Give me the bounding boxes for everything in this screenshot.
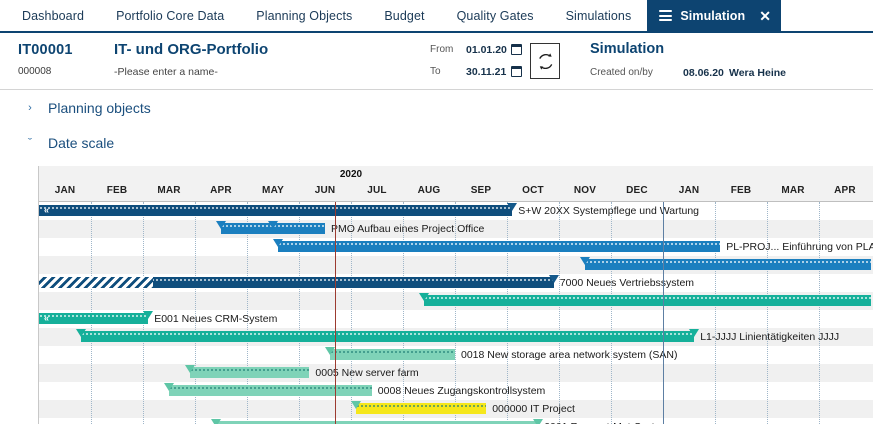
to-date-input[interactable]: 30.11.21 bbox=[466, 66, 506, 78]
gantt-bar[interactable] bbox=[278, 241, 720, 252]
gantt-month-label: APR bbox=[819, 185, 871, 196]
gantt-gridline bbox=[559, 202, 560, 424]
tab-label: Simulations bbox=[566, 9, 632, 23]
gantt-gridline bbox=[819, 202, 820, 424]
gantt-bar[interactable] bbox=[424, 295, 871, 306]
gantt-bar-label: S+W 20XX Systempflege und Wartung bbox=[518, 205, 699, 217]
to-label: To bbox=[430, 66, 441, 77]
gantt-bar[interactable] bbox=[81, 331, 695, 342]
tab-label: Dashboard bbox=[22, 9, 84, 23]
gantt-month-label: FEB bbox=[715, 185, 767, 196]
calendar-icon[interactable] bbox=[511, 66, 522, 77]
gantt-milestone-start-icon[interactable] bbox=[76, 329, 86, 337]
gantt-row[interactable] bbox=[39, 346, 873, 364]
tab-label: Planning Objects bbox=[256, 9, 352, 23]
gantt-bar-progress-dots bbox=[278, 242, 720, 245]
gantt-gridline bbox=[767, 202, 768, 424]
gantt-bar[interactable] bbox=[330, 349, 455, 360]
gantt-gridline bbox=[611, 202, 612, 424]
gantt-bar[interactable] bbox=[585, 259, 871, 270]
gantt-milestone-start-icon[interactable] bbox=[419, 293, 429, 301]
gantt-milestone-start-icon[interactable] bbox=[211, 419, 221, 424]
gantt-bar-label: 000000 IT Project bbox=[492, 403, 575, 415]
gantt-bar-label: E001 Neues CRM-System bbox=[154, 313, 277, 325]
gantt-milestone-start-icon[interactable] bbox=[580, 257, 590, 265]
gantt-bar[interactable] bbox=[39, 313, 148, 324]
gantt-milestone-end-icon[interactable] bbox=[549, 275, 559, 283]
from-label: From bbox=[430, 44, 453, 55]
gantt-bar-progress-dots bbox=[190, 368, 310, 371]
section-label: Planning objects bbox=[48, 100, 151, 116]
tab-dashboard[interactable]: Dashboard bbox=[0, 0, 100, 31]
gantt-month-label: MAR bbox=[767, 185, 819, 196]
gantt-month-label: JAN bbox=[39, 185, 91, 196]
section-date-scale[interactable]: ˇ Date scale bbox=[0, 125, 873, 160]
gantt-gridline bbox=[715, 202, 716, 424]
gantt-scroll-left-icon[interactable]: « bbox=[44, 205, 48, 216]
tab-simulation-active[interactable]: Simulation ✕ bbox=[647, 0, 781, 31]
gantt-month-label: NOV bbox=[559, 185, 611, 196]
gantt-milestone-end-icon[interactable] bbox=[689, 329, 699, 337]
gantt-bar-label: L1-JJJJ Linientätigkeiten JJJJ bbox=[700, 331, 839, 343]
section-label: Date scale bbox=[48, 135, 114, 151]
calendar-icon[interactable] bbox=[511, 44, 522, 55]
gantt-bar-progress-dots bbox=[169, 386, 372, 389]
gantt-bar[interactable] bbox=[190, 367, 310, 378]
tab-planning-objects[interactable]: Planning Objects bbox=[240, 0, 368, 31]
chevron-down-icon[interactable]: ˇ bbox=[25, 137, 34, 148]
gantt-rows-area[interactable]: «S+W 20XX Systempflege und WartungPMO Au… bbox=[39, 202, 873, 424]
tab-quality-gates[interactable]: Quality Gates bbox=[441, 0, 550, 31]
gantt-milestone-start-icon[interactable] bbox=[185, 365, 195, 373]
gantt-month-label: AUG bbox=[403, 185, 455, 196]
portfolio-sub-id: 000008 bbox=[18, 66, 51, 77]
gantt-milestone-end-icon[interactable] bbox=[507, 203, 517, 211]
gantt-milestone-mid-icon[interactable] bbox=[268, 221, 278, 229]
gantt-year-label: 2020 bbox=[321, 169, 381, 180]
chevron-right-icon[interactable]: › bbox=[26, 102, 34, 114]
gantt-bar-label: 7000 Neues Vertriebssystem bbox=[560, 277, 694, 289]
name-field[interactable]: -Please enter a name- bbox=[114, 66, 218, 78]
page-title: IT- und ORG-Portfolio bbox=[114, 41, 268, 58]
section-planning-objects[interactable]: › Planning objects bbox=[0, 90, 873, 125]
gantt-milestone-start-icon[interactable] bbox=[216, 221, 226, 229]
gantt-milestone-end-icon[interactable] bbox=[533, 419, 543, 424]
created-by-user: Wera Heine bbox=[729, 67, 786, 79]
gantt-row[interactable] bbox=[39, 364, 873, 382]
created-date: 08.06.20 bbox=[683, 67, 724, 79]
gantt-bar-label: PL-PROJ... Einführung von PLANTA Project bbox=[726, 241, 873, 253]
gantt-month-label: MAR bbox=[143, 185, 195, 196]
refresh-button[interactable] bbox=[530, 43, 560, 79]
gantt-bar-progress-dots bbox=[39, 314, 148, 317]
gantt-bar-hatched-segment bbox=[39, 277, 153, 288]
gantt-bar-progress-dots bbox=[356, 404, 486, 407]
gantt-month-label: DEC bbox=[611, 185, 663, 196]
created-on-by-label: Created on/by bbox=[590, 67, 653, 78]
gantt-milestone-start-icon[interactable] bbox=[273, 239, 283, 247]
gantt-month-label: SEP bbox=[455, 185, 507, 196]
gantt-month-label: JUL bbox=[351, 185, 403, 196]
from-date-input[interactable]: 01.01.20 bbox=[466, 44, 507, 56]
gantt-month-label: FEB bbox=[91, 185, 143, 196]
gantt-bar-label: 0008 Neues Zugangskontrollsystem bbox=[378, 385, 546, 397]
gantt-milestone-start-icon[interactable] bbox=[164, 383, 174, 391]
gantt-timescale-header: 2020JANFEBMARAPRMAYJUNJULAUGSEPOCTNOVDEC… bbox=[39, 166, 873, 202]
gantt-chart[interactable]: 2020JANFEBMARAPRMAYJUNJULAUGSEPOCTNOVDEC… bbox=[38, 166, 873, 424]
gantt-month-label: MAY bbox=[247, 185, 299, 196]
tab-label: Portfolio Core Data bbox=[116, 9, 224, 23]
tab-budget[interactable]: Budget bbox=[368, 0, 440, 31]
gantt-bar-label: 0005 New server farm bbox=[315, 367, 418, 379]
tab-label: Budget bbox=[384, 9, 424, 23]
tab-label: Simulation bbox=[680, 9, 745, 23]
gantt-bar-label: 0018 New storage area network system (SA… bbox=[461, 349, 678, 361]
hamburger-menu-icon[interactable] bbox=[659, 8, 672, 24]
gantt-bar[interactable] bbox=[169, 385, 372, 396]
gantt-bar[interactable] bbox=[356, 403, 486, 414]
refresh-icon bbox=[536, 52, 555, 71]
gantt-month-label: OCT bbox=[507, 185, 559, 196]
gantt-milestone-start-icon[interactable] bbox=[351, 401, 361, 409]
gantt-month-label: APR bbox=[195, 185, 247, 196]
gantt-scroll-left-icon[interactable]: « bbox=[44, 313, 48, 324]
gantt-month-label: JAN bbox=[663, 185, 715, 196]
simulation-title: Simulation bbox=[590, 41, 664, 57]
gantt-bar-progress-dots bbox=[585, 260, 871, 263]
period-marker-line bbox=[663, 202, 664, 424]
tab-portfolio-core-data[interactable]: Portfolio Core Data bbox=[100, 0, 240, 31]
gantt-month-label: JUN bbox=[299, 185, 351, 196]
gantt-milestone-start-icon[interactable] bbox=[325, 347, 335, 355]
gantt-bar-progress-dots bbox=[424, 296, 871, 299]
object-header: IT00001 000008 IT- und ORG-Portfolio -Pl… bbox=[0, 33, 873, 90]
gantt-bar-progress-dots bbox=[330, 350, 455, 353]
today-line bbox=[335, 202, 336, 424]
portfolio-id: IT00001 bbox=[18, 42, 73, 58]
gantt-bar[interactable] bbox=[39, 205, 512, 216]
close-icon[interactable]: ✕ bbox=[759, 9, 771, 23]
gantt-bar-progress-dots bbox=[81, 332, 695, 335]
tab-label: Quality Gates bbox=[457, 9, 534, 23]
tab-bar: Dashboard Portfolio Core Data Planning O… bbox=[0, 0, 873, 33]
gantt-bar-progress-dots bbox=[39, 206, 512, 209]
gantt-bar-label: PMO Aufbau eines Project Office bbox=[331, 223, 484, 235]
gantt-milestone-end-icon[interactable] bbox=[143, 311, 153, 319]
tab-simulations[interactable]: Simulations bbox=[550, 0, 648, 31]
